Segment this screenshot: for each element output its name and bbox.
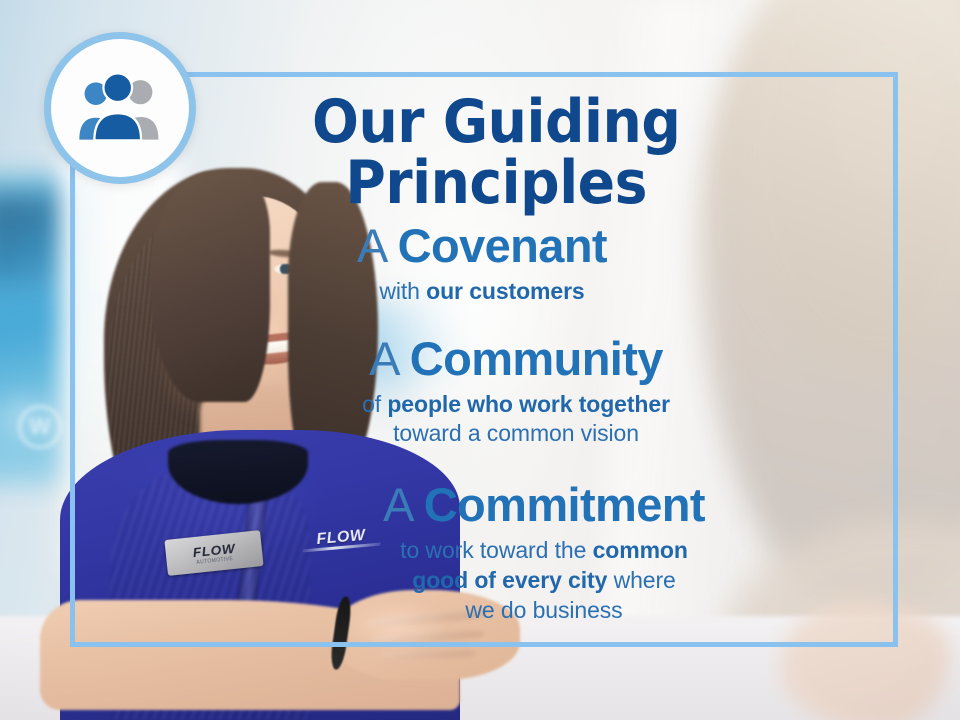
- principle-word: Commitment: [424, 478, 705, 531]
- subtitle-line: we do business: [230, 596, 858, 626]
- subtitle-regular: with: [379, 278, 426, 304]
- principle-subtitle: to work toward the common good of every …: [230, 536, 858, 626]
- principles-list: A Covenant with our customers A Communit…: [70, 220, 858, 625]
- subtitle-line: with our customers: [379, 278, 584, 304]
- poster: FLOW AUTOMOTIVE FLOW Our Guiding Princip…: [0, 0, 960, 720]
- principle-word: Covenant: [398, 219, 607, 272]
- people-group-icon: [71, 70, 169, 146]
- subtitle-regular: where: [607, 567, 675, 593]
- principle-heading: A Covenant: [106, 220, 858, 273]
- page-title: Our Guiding Principles: [102, 92, 827, 214]
- subtitle-line: of people who work together: [174, 390, 858, 420]
- subtitle-bold: people who work together: [387, 391, 670, 417]
- text-overlay: Our Guiding Principles A Covenant with o…: [70, 72, 898, 647]
- principle-word: Community: [410, 332, 663, 385]
- principle-item-commitment: A Commitment to work toward the common g…: [70, 479, 858, 625]
- subtitle-bold: our customers: [426, 278, 584, 304]
- principle-subtitle: with our customers: [106, 277, 858, 307]
- principle-item-covenant: A Covenant with our customers: [70, 220, 858, 307]
- principle-subtitle: of people who work together toward a com…: [174, 390, 858, 450]
- subtitle-bold: common: [593, 537, 688, 563]
- subtitle-bold: good of every city: [412, 567, 607, 593]
- subtitle-regular: of: [362, 391, 387, 417]
- principle-article: A: [357, 219, 385, 272]
- spacer: [70, 307, 858, 333]
- people-badge: [44, 32, 196, 184]
- principle-heading: A Community: [174, 333, 858, 386]
- subtitle-line: good of every city where: [230, 566, 858, 596]
- spacer: [70, 449, 858, 479]
- subtitle-line: to work toward the common: [230, 536, 858, 566]
- subtitle-line: toward a common vision: [174, 419, 858, 449]
- principle-article: A: [369, 332, 397, 385]
- principle-heading: A Commitment: [230, 479, 858, 532]
- principle-article: A: [383, 478, 411, 531]
- principle-item-community: A Community of people who work together …: [70, 333, 858, 449]
- subtitle-regular: to work toward the: [400, 537, 592, 563]
